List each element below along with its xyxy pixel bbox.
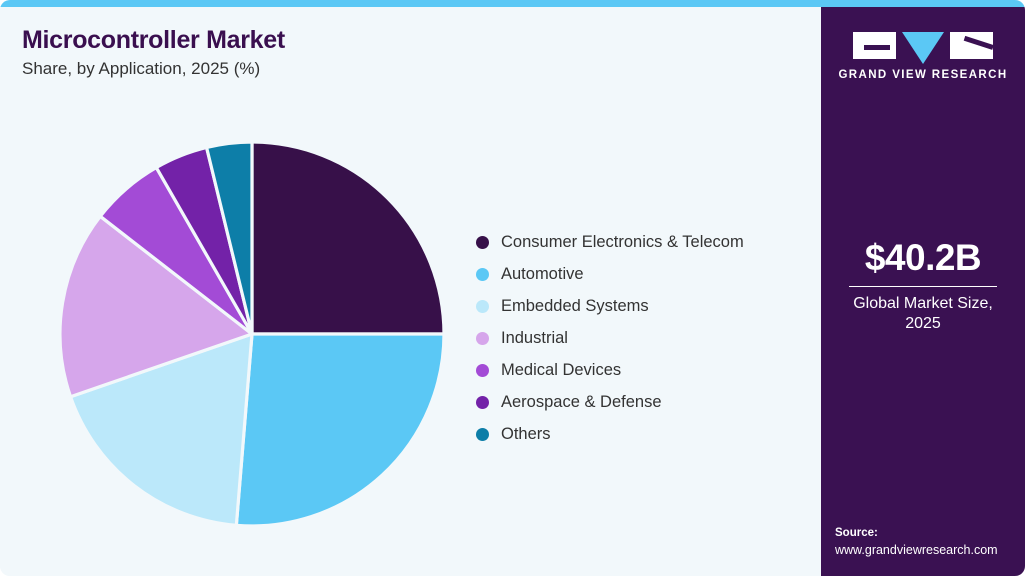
legend-item-label: Embedded Systems: [501, 297, 649, 316]
legend-item[interactable]: Others: [476, 418, 806, 450]
legend-swatch-icon: [476, 396, 489, 409]
market-size-value: $40.2B: [821, 239, 1025, 278]
page-subtitle: Share, by Application, 2025 (%): [22, 59, 722, 79]
legend-item-label: Medical Devices: [501, 361, 621, 380]
logo-g-icon: [853, 32, 896, 59]
legend-item[interactable]: Automotive: [476, 258, 806, 290]
source-block: Source: www.grandviewresearch.com: [835, 525, 1025, 558]
pie-slice-group: [60, 142, 444, 526]
legend-item[interactable]: Aerospace & Defense: [476, 386, 806, 418]
logo-v-triangle-icon: [902, 32, 944, 64]
legend-item[interactable]: Embedded Systems: [476, 290, 806, 322]
logo-marks: [821, 32, 1025, 62]
pie-slice[interactable]: [236, 334, 444, 526]
legend-item[interactable]: Medical Devices: [476, 354, 806, 386]
market-size-caption: Global Market Size, 2025: [821, 294, 1025, 335]
legend-swatch-icon: [476, 364, 489, 377]
logo-wordmark: GRAND VIEW RESEARCH: [821, 69, 1025, 81]
title-block: Microcontroller Market Share, by Applica…: [22, 26, 722, 79]
legend-item-label: Others: [501, 425, 551, 444]
source-url[interactable]: www.grandviewresearch.com: [835, 542, 1025, 558]
pie-chart: [57, 138, 447, 528]
legend-item-label: Aerospace & Defense: [501, 393, 662, 412]
legend-item-label: Industrial: [501, 329, 568, 348]
legend-swatch-icon: [476, 236, 489, 249]
legend-item-label: Automotive: [501, 265, 584, 284]
stat-divider: [849, 286, 997, 287]
chart-legend: Consumer Electronics & TelecomAutomotive…: [476, 226, 806, 450]
page-title: Microcontroller Market: [22, 26, 722, 54]
top-accent-bar: [0, 0, 1025, 7]
legend-swatch-icon: [476, 300, 489, 313]
brand-sidebar: GRAND VIEW RESEARCH $40.2B Global Market…: [821, 7, 1025, 576]
source-label: Source:: [835, 525, 1025, 542]
market-size-stat: $40.2B Global Market Size, 2025: [821, 239, 1025, 335]
chart-main-area: Microcontroller Market Share, by Applica…: [0, 7, 821, 576]
logo: GRAND VIEW RESEARCH: [821, 32, 1025, 81]
pie-chart-svg: [57, 138, 447, 528]
legend-item-label: Consumer Electronics & Telecom: [501, 233, 744, 252]
legend-item[interactable]: Consumer Electronics & Telecom: [476, 226, 806, 258]
legend-swatch-icon: [476, 428, 489, 441]
pie-slice[interactable]: [252, 142, 444, 334]
chart-card: Microcontroller Market Share, by Applica…: [0, 0, 1025, 576]
logo-r-icon: [950, 32, 993, 59]
legend-swatch-icon: [476, 268, 489, 281]
legend-item[interactable]: Industrial: [476, 322, 806, 354]
legend-swatch-icon: [476, 332, 489, 345]
